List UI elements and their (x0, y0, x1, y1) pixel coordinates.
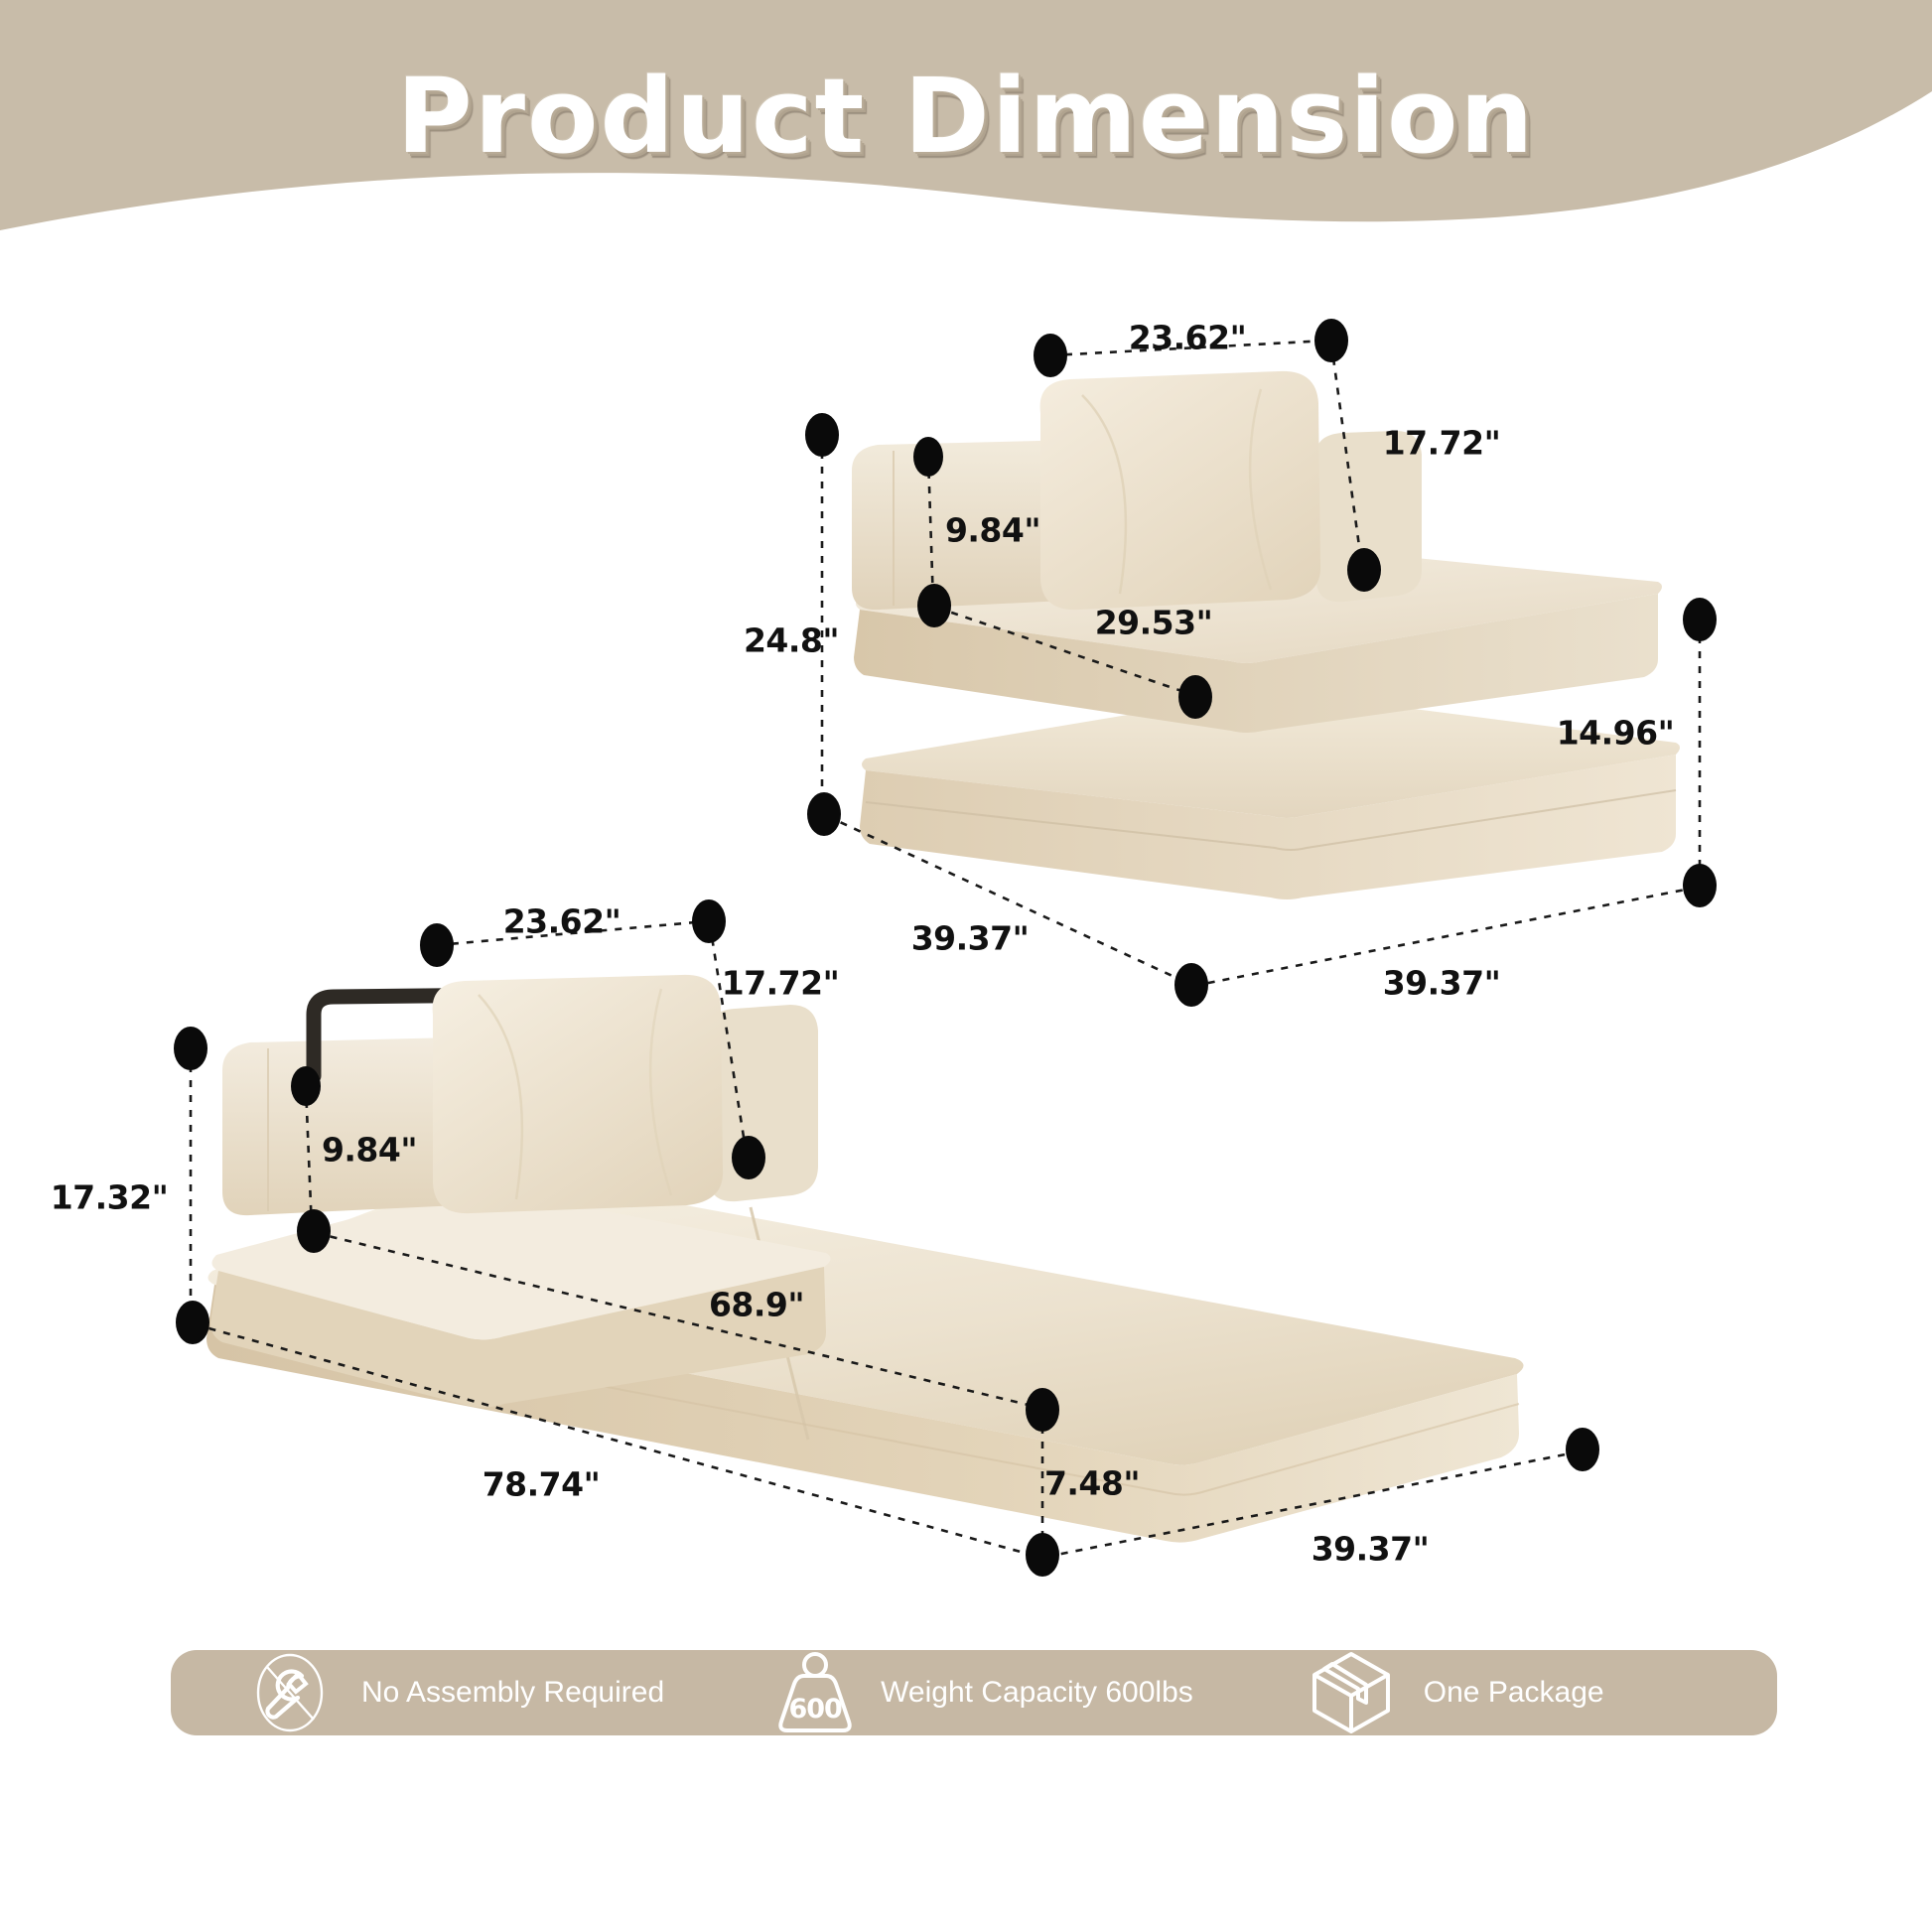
infographic-canvas: Product Dimension (0, 0, 1932, 1932)
dim-label-bed-total-length: 78.74" (483, 1465, 601, 1504)
unfolded-bed-dimension-lines (0, 0, 1932, 1628)
dim-endpoint-dot (1026, 1388, 1059, 1432)
feature-no-assembly: No Assembly Required (248, 1650, 664, 1735)
dim-endpoint-dot (732, 1136, 765, 1179)
feature-label: One Package (1424, 1676, 1604, 1710)
no-assembly-icon (248, 1651, 332, 1734)
feature-label: Weight Capacity 600lbs (881, 1676, 1193, 1710)
dim-label-bed-backrest-height: 9.84" (322, 1131, 417, 1170)
dim-label-bed-thickness: 7.48" (1044, 1464, 1140, 1503)
dim-endpoint-dot (297, 1209, 331, 1253)
dim-endpoint-dot (291, 1066, 321, 1106)
dim-label-bed-pillow-height: 17.72" (722, 964, 840, 1003)
dim-label-bed-overall-height: 17.32" (51, 1178, 169, 1217)
weight-capacity-icon: 600 (775, 1650, 855, 1735)
figure-unfolded-bed: 23.62" 17.72" 9.84" 17.32" 68.9" 78.74" … (0, 0, 1932, 1628)
feature-bar: No Assembly Required 600 Weight Capacity… (171, 1650, 1777, 1735)
feature-label: No Assembly Required (361, 1676, 664, 1710)
dim-label-bed-mattress-width: 39.37" (1311, 1530, 1430, 1569)
dim-endpoint-dot (176, 1301, 209, 1344)
dim-label-bed-pillow-width: 23.62" (503, 902, 621, 941)
package-box-icon (1309, 1649, 1394, 1736)
dim-endpoint-dot (1566, 1428, 1599, 1471)
dim-endpoint-dot (174, 1027, 207, 1070)
dim-label-bed-mattress-length: 68.9" (709, 1286, 804, 1324)
feature-one-package: One Package (1309, 1650, 1604, 1735)
weight-badge: 600 (775, 1694, 855, 1725)
dim-endpoint-dot (1026, 1533, 1059, 1577)
dim-endpoint-dot (420, 923, 454, 967)
feature-weight-capacity: 600 Weight Capacity 600lbs (775, 1650, 1193, 1735)
dim-endpoint-dot (692, 899, 726, 943)
